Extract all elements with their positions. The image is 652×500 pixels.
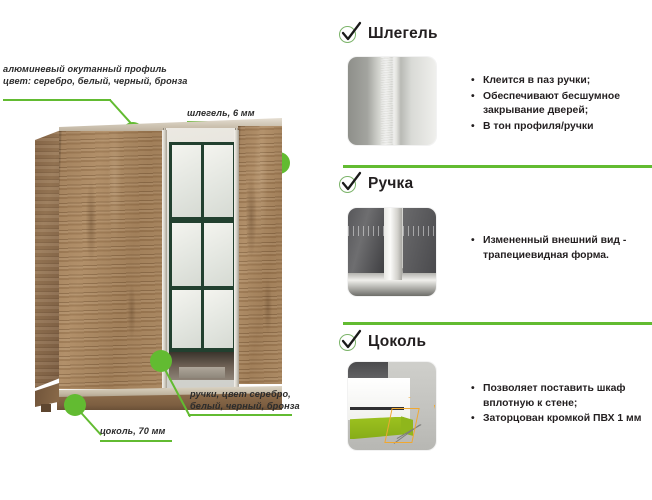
- callout-handles-line2: белый, черный, бронза: [190, 400, 300, 412]
- wardrobe-door-mirror: [166, 128, 238, 390]
- feature-shlegel-title: Шлегель: [368, 25, 438, 43]
- feature-handle-header: Ручка: [338, 172, 413, 196]
- mirror-reflection-rug: [179, 367, 225, 378]
- list-item: Позволяет поставить шкаф вплотную к стен…: [483, 382, 652, 411]
- callout-profile-line2: цвет: серебро, белый, черный, бронза: [3, 75, 187, 87]
- callout-handles-line1: ручки, цвет серебро,: [190, 388, 300, 400]
- callout-cokol: цоколь, 70 мм: [100, 425, 165, 437]
- wardrobe-foot: [41, 404, 51, 412]
- callout-cokol-line1: цоколь, 70 мм: [100, 425, 165, 437]
- callout-handles-underline: [188, 414, 292, 416]
- check-circle-icon: [338, 332, 359, 353]
- callout-profile-underline: [3, 99, 111, 101]
- feature-handle-thumbnail: [348, 208, 436, 296]
- section-divider-1: [343, 165, 652, 168]
- feature-cokol-title: Цоколь: [368, 333, 426, 351]
- list-item: Клеится в паз ручки;: [483, 74, 652, 89]
- list-item: В тон профиля/ручки: [483, 120, 652, 135]
- feature-cokol-bullets: Позволяет поставить шкаф вплотную к стен…: [470, 382, 652, 428]
- check-circle-icon: [338, 24, 359, 45]
- wardrobe-left-side: [35, 130, 61, 388]
- feature-handle-bullets: Измененный внешний вид - трапециевидная …: [470, 234, 652, 264]
- callout-cokol-underline: [100, 440, 172, 442]
- feature-cokol-thumbnail: [348, 362, 436, 450]
- wardrobe-door-left: [59, 131, 166, 389]
- feature-shlegel-thumbnail: [348, 57, 436, 145]
- list-item: Заторцован кромкой ПВХ 1 мм: [483, 412, 652, 427]
- feature-handle-title: Ручка: [368, 175, 413, 193]
- callout-profile-line1: алюминевый окутанный профиль: [3, 63, 187, 75]
- feature-cokol-header: Цоколь: [338, 330, 426, 354]
- wardrobe-illustration-panel: алюминевый окутанный профиль цвет: сереб…: [0, 0, 330, 500]
- check-circle-icon: [338, 174, 359, 195]
- mirror-reflection-frame: [169, 142, 236, 354]
- list-item: Измененный внешний вид - трапециевидная …: [483, 234, 652, 263]
- features-panel: Шлегель Клеится в паз ручки; Обеспечиваю…: [330, 0, 652, 500]
- feature-shlegel-bullets: Клеится в паз ручки; Обеспечивают бесшум…: [470, 74, 652, 135]
- wardrobe-door-right: [238, 126, 282, 384]
- callout-profile: алюминевый окутанный профиль цвет: сереб…: [3, 63, 187, 88]
- door-handle-right: [234, 130, 239, 388]
- section-divider-2: [343, 322, 652, 325]
- list-item: Обеспечивают бесшумное закрывание дверей…: [483, 90, 652, 119]
- feature-shlegel-header: Шлегель: [338, 22, 438, 46]
- callout-handles: ручки, цвет серебро, белый, черный, брон…: [190, 388, 300, 413]
